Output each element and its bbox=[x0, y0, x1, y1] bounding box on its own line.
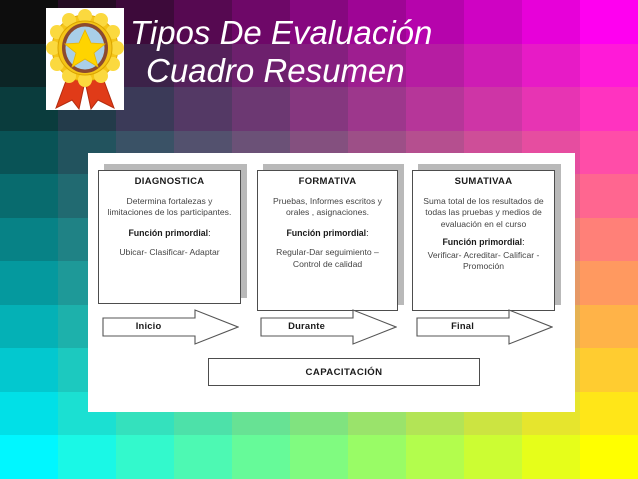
page-title: Tipos De Evaluación Cuadro Resumen bbox=[130, 8, 432, 90]
concept-function-text: Función primordial bbox=[128, 228, 208, 238]
background-swatch bbox=[116, 435, 174, 479]
concept-box-sumativa: SUMATIVAA Suma total de los resultados d… bbox=[412, 170, 555, 311]
background-swatch bbox=[232, 435, 290, 479]
background-swatch bbox=[0, 348, 58, 392]
background-swatch bbox=[580, 435, 638, 479]
concept-box-diagnostica: DIAGNOSTICA Determina fortalezas y limit… bbox=[98, 170, 241, 304]
background-swatch bbox=[464, 435, 522, 479]
background-swatch bbox=[580, 174, 638, 218]
background-swatch bbox=[174, 435, 232, 479]
title-block: Tipos De Evaluación Cuadro Resumen bbox=[46, 8, 432, 110]
background-swatch bbox=[580, 261, 638, 305]
process-arrow-inicio: Inicio bbox=[102, 309, 239, 345]
diagram-panel: DIAGNOSTICA Determina fortalezas y limit… bbox=[88, 153, 575, 412]
slide-canvas: Tipos De Evaluación Cuadro Resumen DIAGN… bbox=[0, 0, 638, 479]
concept-function-label: Función primordial: bbox=[419, 237, 548, 249]
background-swatch bbox=[0, 131, 58, 175]
concept-title: FORMATIVA bbox=[264, 176, 391, 188]
background-swatch bbox=[522, 0, 580, 44]
concept-description: Suma total de los resultados de todas la… bbox=[419, 196, 548, 230]
background-swatch bbox=[0, 305, 58, 349]
background-swatch bbox=[580, 87, 638, 131]
award-rosette-icon bbox=[46, 8, 124, 110]
arrow-label: Durante bbox=[260, 320, 353, 331]
background-swatch bbox=[580, 348, 638, 392]
concept-function-detail: Regular-Dar seguimiento – Control de cal… bbox=[264, 247, 391, 270]
background-swatch bbox=[464, 44, 522, 88]
arrow-label: Inicio bbox=[102, 320, 195, 331]
process-arrow-durante: Durante bbox=[260, 309, 397, 345]
background-swatch bbox=[290, 435, 348, 479]
capacitacion-label: CAPACITACIÓN bbox=[306, 367, 383, 378]
concept-description: Determina fortalezas y limitaciones de l… bbox=[105, 196, 234, 219]
background-swatch bbox=[522, 435, 580, 479]
concept-function-text: Función primordial bbox=[442, 237, 522, 247]
background-swatch bbox=[580, 131, 638, 175]
background-swatch bbox=[0, 392, 58, 436]
background-swatch bbox=[580, 44, 638, 88]
background-swatch bbox=[0, 174, 58, 218]
concept-title: SUMATIVAA bbox=[419, 176, 548, 188]
background-swatch bbox=[580, 305, 638, 349]
concept-function-label: Función primordial: bbox=[264, 228, 391, 240]
background-swatch bbox=[464, 87, 522, 131]
background-swatch bbox=[580, 392, 638, 436]
background-swatch bbox=[464, 0, 522, 44]
background-swatch bbox=[580, 0, 638, 44]
concept-function-label: Función primordial: bbox=[105, 228, 234, 240]
concept-title: DIAGNOSTICA bbox=[105, 176, 234, 188]
title-line-1: Tipos De Evaluación bbox=[130, 14, 432, 51]
process-arrow-final: Final bbox=[416, 309, 553, 345]
background-swatch bbox=[0, 218, 58, 262]
title-line-2: Cuadro Resumen bbox=[130, 52, 432, 90]
capacitacion-bar: CAPACITACIÓN bbox=[208, 358, 480, 386]
background-swatch bbox=[0, 261, 58, 305]
arrow-label: Final bbox=[416, 320, 509, 331]
background-swatch bbox=[348, 435, 406, 479]
background-swatch bbox=[522, 87, 580, 131]
concept-function-text: Función primordial bbox=[286, 228, 366, 238]
concept-function-detail: Ubicar- Clasificar- Adaptar bbox=[105, 247, 234, 258]
background-swatch bbox=[58, 435, 116, 479]
concept-box-formativa: FORMATIVA Pruebas, Informes escritos y o… bbox=[257, 170, 398, 311]
background-swatch bbox=[522, 44, 580, 88]
background-swatch bbox=[580, 218, 638, 262]
concept-description: Pruebas, Informes escritos y orales , as… bbox=[264, 196, 391, 219]
background-swatch bbox=[0, 435, 58, 479]
concept-function-detail: Verificar- Acreditar- Calificar - Promoc… bbox=[419, 250, 548, 273]
background-swatch bbox=[406, 435, 464, 479]
